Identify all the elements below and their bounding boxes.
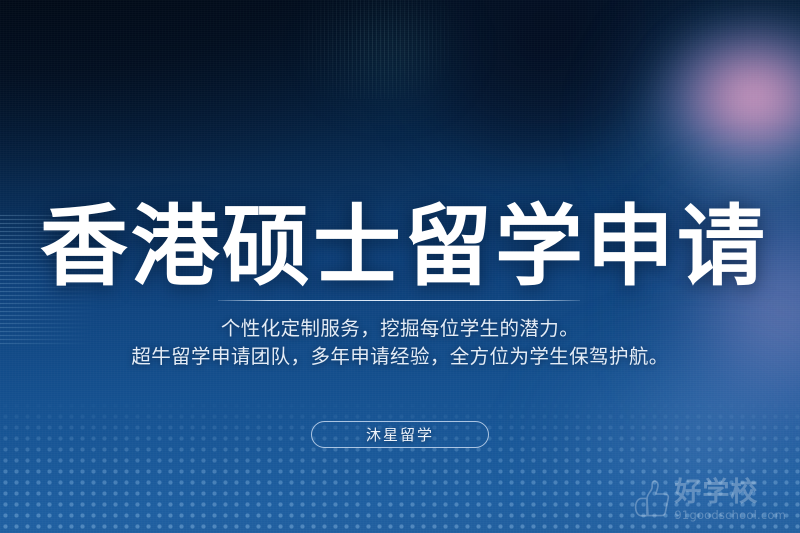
subtitle-line-1: 个性化定制服务，挖掘每位学生的潜力。	[0, 315, 800, 343]
banner-content: 香港硕士留学申请 个性化定制服务，挖掘每位学生的潜力。 超牛留学申请团队，多年申…	[0, 0, 800, 533]
brand-tag-pill[interactable]: 沐星留学	[311, 421, 489, 448]
banner-title: 香港硕士留学申请	[40, 202, 768, 292]
brand-tag-label: 沐星留学	[366, 424, 434, 445]
subtitle-line-2: 超牛留学申请团队，多年申请经验，全方位为学生保驾护航。	[0, 343, 800, 371]
promo-banner: 香港硕士留学申请 个性化定制服务，挖掘每位学生的潜力。 超牛留学申请团队，多年申…	[0, 0, 800, 533]
title-divider	[218, 300, 580, 301]
banner-subtitle: 个性化定制服务，挖掘每位学生的潜力。 超牛留学申请团队，多年申请经验，全方位为学…	[0, 315, 800, 371]
